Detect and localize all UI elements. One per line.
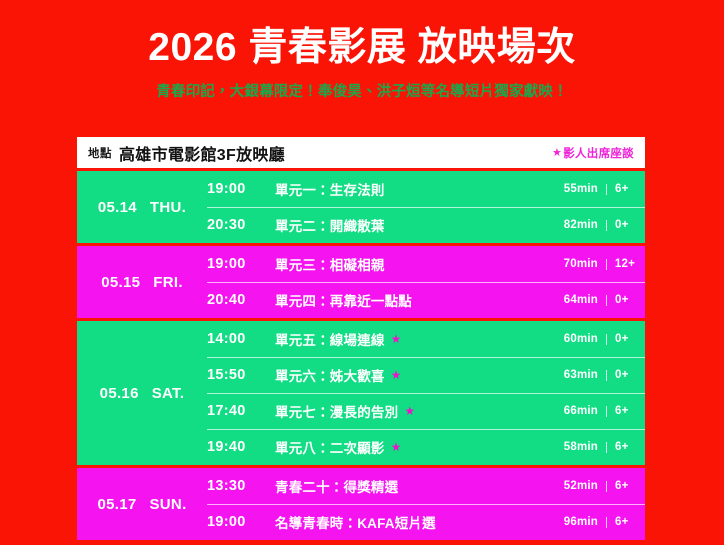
day-date-cell: 05.16SAT. xyxy=(77,321,207,465)
session-title: 名導青春時：KAFA短片選 xyxy=(275,512,554,532)
day-date-cell: 05.14THU. xyxy=(77,171,207,243)
session-rating: 6+ xyxy=(615,516,635,528)
day-block: 05.16SAT.14:00單元五：線場連線★60min0+15:50單元六：姊… xyxy=(77,321,645,465)
session-rating: 6+ xyxy=(615,183,635,195)
session-row[interactable]: 20:40單元四：再靠近一點點64min0+ xyxy=(207,282,645,318)
session-row[interactable]: 17:40單元七：漫長的告別★66min6+ xyxy=(207,393,645,429)
session-title: 單元五：線場連線★ xyxy=(275,329,554,349)
session-time: 13:30 xyxy=(207,478,275,494)
session-title: 單元二：開織散葉 xyxy=(275,215,554,235)
day-weekday: THU. xyxy=(150,199,186,216)
session-meta: 70min12+ xyxy=(554,258,635,270)
session-rating: 0+ xyxy=(615,219,635,231)
star-icon: ★ xyxy=(391,441,402,453)
page-title: 2026 青春影展 放映場次 xyxy=(0,28,724,69)
session-meta: 82min0+ xyxy=(554,219,635,231)
meta-separator xyxy=(606,334,607,345)
session-row[interactable]: 20:30單元二：開織散葉82min0+ xyxy=(207,207,645,243)
session-time: 17:40 xyxy=(207,403,275,419)
day-weekday: FRI. xyxy=(153,274,183,291)
day-weekday: SAT. xyxy=(152,385,185,402)
star-icon: ★ xyxy=(552,146,562,159)
day-date-number: 05.16 xyxy=(100,385,139,402)
session-title: 單元一：生存法則 xyxy=(275,179,554,199)
venue-name: 高雄市電影館3F放映廳 xyxy=(119,141,285,165)
session-duration: 58min xyxy=(554,441,598,453)
session-rating: 0+ xyxy=(615,294,635,306)
session-duration: 63min xyxy=(554,369,598,381)
session-title: 單元六：姊大歡喜★ xyxy=(275,365,554,385)
session-title: 單元三：相礙相親 xyxy=(275,254,554,274)
session-title-label: 名導青春時：KAFA短片選 xyxy=(275,512,436,532)
session-time: 20:30 xyxy=(207,217,275,233)
schedule-day-list: 05.14THU.19:00單元一：生存法則55min6+20:30單元二：開織… xyxy=(77,171,645,540)
session-time: 19:00 xyxy=(207,256,275,272)
legend-note: ★ 影人出席座談 xyxy=(552,145,634,161)
session-row-group: 14:00單元五：線場連線★60min0+15:50單元六：姊大歡喜★63min… xyxy=(207,321,645,465)
session-rating: 0+ xyxy=(615,333,635,345)
session-row[interactable]: 14:00單元五：線場連線★60min0+ xyxy=(207,321,645,357)
session-time: 15:50 xyxy=(207,367,275,383)
poster-subtitle: 青春印記，大銀幕限定！奉俊昊、洪子烜等名導短片獨家獻映！ xyxy=(0,80,724,101)
session-rating: 12+ xyxy=(615,258,635,270)
legend-note-label: 影人出席座談 xyxy=(563,145,634,161)
session-row-group: 13:30青春二十：得獎精選52min6+19:00名導青春時：KAFA短片選9… xyxy=(207,468,645,540)
session-title-label: 單元二：開織散葉 xyxy=(275,215,385,235)
star-icon: ★ xyxy=(404,405,415,417)
day-block: 05.15FRI.19:00單元三：相礙相親70min12+20:40單元四：再… xyxy=(77,246,645,318)
session-duration: 60min xyxy=(554,333,598,345)
session-duration: 96min xyxy=(554,516,598,528)
session-title-label: 單元一：生存法則 xyxy=(275,179,385,199)
day-date-cell: 05.15FRI. xyxy=(77,246,207,318)
session-meta: 66min6+ xyxy=(554,405,635,417)
session-duration: 64min xyxy=(554,294,598,306)
venue-label: 地點 xyxy=(88,145,112,161)
session-title: 青春二十：得獎精選 xyxy=(275,476,554,496)
session-meta: 55min6+ xyxy=(554,183,635,195)
session-rating: 0+ xyxy=(615,369,635,381)
session-title-label: 青春二十：得獎精選 xyxy=(275,476,398,496)
session-time: 19:00 xyxy=(207,514,275,530)
session-row-group: 19:00單元一：生存法則55min6+20:30單元二：開織散葉82min0+ xyxy=(207,171,645,243)
session-meta: 60min0+ xyxy=(554,333,635,345)
star-icon: ★ xyxy=(391,333,402,345)
star-icon: ★ xyxy=(391,369,402,381)
session-rating: 6+ xyxy=(615,405,635,417)
session-title-label: 單元五：線場連線 xyxy=(275,329,385,349)
day-block: 05.14THU.19:00單元一：生存法則55min6+20:30單元二：開織… xyxy=(77,171,645,243)
meta-separator xyxy=(606,517,607,528)
meta-separator xyxy=(606,184,607,195)
meta-separator xyxy=(606,295,607,306)
meta-separator xyxy=(606,259,607,270)
session-meta: 58min6+ xyxy=(554,441,635,453)
session-time: 14:00 xyxy=(207,331,275,347)
session-time: 19:40 xyxy=(207,439,275,455)
session-duration: 52min xyxy=(554,480,598,492)
session-time: 20:40 xyxy=(207,292,275,308)
session-title: 單元四：再靠近一點點 xyxy=(275,290,554,310)
session-meta: 63min0+ xyxy=(554,369,635,381)
session-meta: 96min6+ xyxy=(554,516,635,528)
session-duration: 55min xyxy=(554,183,598,195)
session-duration: 70min xyxy=(554,258,598,270)
session-row[interactable]: 15:50單元六：姊大歡喜★63min0+ xyxy=(207,357,645,393)
meta-separator xyxy=(606,220,607,231)
session-row[interactable]: 19:00單元三：相礙相親70min12+ xyxy=(207,246,645,282)
session-row-group: 19:00單元三：相礙相親70min12+20:40單元四：再靠近一點點64mi… xyxy=(207,246,645,318)
day-block: 05.17SUN.13:30青春二十：得獎精選52min6+19:00名導青春時… xyxy=(77,468,645,540)
session-meta: 52min6+ xyxy=(554,480,635,492)
session-title-label: 單元四：再靠近一點點 xyxy=(275,290,412,310)
session-title-label: 單元七：漫長的告別 xyxy=(275,401,398,421)
day-date-cell: 05.17SUN. xyxy=(77,468,207,540)
meta-separator xyxy=(606,481,607,492)
meta-separator xyxy=(606,406,607,417)
session-meta: 64min0+ xyxy=(554,294,635,306)
session-rating: 6+ xyxy=(615,480,635,492)
session-title: 單元八：二次顯影★ xyxy=(275,437,554,457)
session-title: 單元七：漫長的告別★ xyxy=(275,401,554,421)
meta-separator xyxy=(606,442,607,453)
session-duration: 66min xyxy=(554,405,598,417)
day-date-number: 05.14 xyxy=(98,199,137,216)
session-row[interactable]: 19:40單元八：二次顯影★58min6+ xyxy=(207,429,645,465)
session-row[interactable]: 19:00名導青春時：KAFA短片選96min6+ xyxy=(207,504,645,540)
session-title-label: 單元八：二次顯影 xyxy=(275,437,385,457)
session-time: 19:00 xyxy=(207,181,275,197)
schedule-card: 地點 高雄市電影館3F放映廳 ★ 影人出席座談 05.14THU.19:00單元… xyxy=(77,137,645,540)
session-title-label: 單元六：姊大歡喜 xyxy=(275,365,385,385)
day-date-number: 05.15 xyxy=(101,274,140,291)
session-row[interactable]: 19:00單元一：生存法則55min6+ xyxy=(207,171,645,207)
venue-bar: 地點 高雄市電影館3F放映廳 ★ 影人出席座談 xyxy=(77,137,645,168)
session-title-label: 單元三：相礙相親 xyxy=(275,254,385,274)
meta-separator xyxy=(606,370,607,381)
session-rating: 6+ xyxy=(615,441,635,453)
poster-header: 2026 青春影展 放映場次 青春印記，大銀幕限定！奉俊昊、洪子烜等名導短片獨家… xyxy=(0,0,724,101)
day-weekday: SUN. xyxy=(150,496,187,513)
day-date-number: 05.17 xyxy=(97,496,136,513)
session-row[interactable]: 13:30青春二十：得獎精選52min6+ xyxy=(207,468,645,504)
session-duration: 82min xyxy=(554,219,598,231)
